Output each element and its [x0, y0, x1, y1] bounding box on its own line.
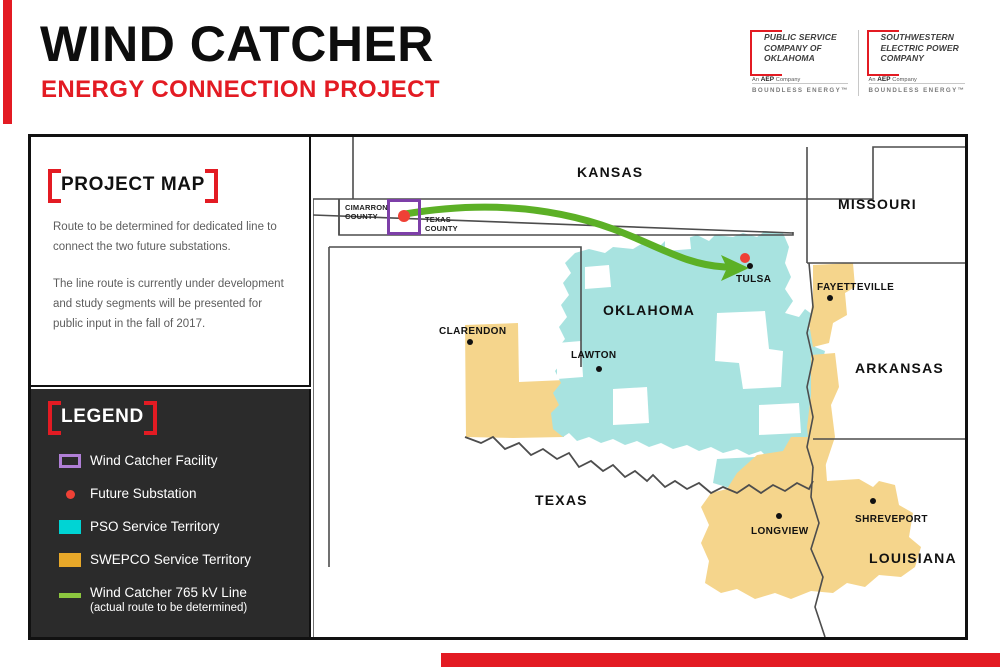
- legend-item-swepco-territory: SWEPCO Service Territory: [50, 551, 300, 568]
- pso-logo-rule: [752, 83, 848, 84]
- city-dot-clarendon: [467, 339, 473, 345]
- swepco-logo-line-1: SOUTHWESTERN: [881, 32, 969, 43]
- swepco-logo-rule: [869, 83, 965, 84]
- legend-label-transmission-line-sub: (actual route to be determined): [90, 601, 247, 616]
- project-map-heading: PROJECT MAP: [48, 172, 218, 198]
- city-label-tulsa: TULSA: [736, 274, 771, 285]
- project-map-body: Route to be determined for dedicated lin…: [53, 217, 285, 351]
- swepco-logo-tagline: BOUNDLESS ENERGY™: [869, 87, 966, 94]
- project-map: CIMARRON COUNTY TEXAS COUNTY KANSAS MISS…: [313, 137, 965, 637]
- city-dot-tulsa: [747, 263, 753, 269]
- legend-items: Wind Catcher Facility Future Substation …: [50, 452, 300, 632]
- county-label-texas-line1: TEXAS: [425, 215, 451, 224]
- city-dot-shreveport: [870, 498, 876, 504]
- swepco-area-arkansas-north: [809, 263, 855, 347]
- county-label-cimarron: CIMARRON COUNTY: [345, 203, 388, 221]
- county-label-texas-line2: COUNTY: [425, 224, 458, 233]
- state-label-louisiana: LOUISIANA: [869, 550, 957, 566]
- page-subtitle: ENERGY CONNECTION PROJECT: [41, 78, 440, 102]
- pso-logo-wordmark: PUBLIC SERVICE COMPANY OF OKLAHOMA: [764, 32, 852, 64]
- project-map-heading-text: PROJECT MAP: [61, 174, 205, 195]
- city-label-clarendon: CLARENDON: [439, 326, 507, 337]
- project-map-heading-bracket-left: [48, 169, 61, 203]
- city-dot-fayetteville: [827, 295, 833, 301]
- project-map-paragraph-1: Route to be determined for dedicated lin…: [53, 217, 285, 257]
- border-texas-panhandle-south: [329, 247, 581, 367]
- pso-logo-line-2: COMPANY OF: [764, 43, 852, 54]
- legend-label-transmission-line-main: Wind Catcher 765 kV Line: [90, 585, 247, 600]
- project-map-heading-bracket-right: [205, 169, 218, 203]
- state-label-missouri: MISSOURI: [838, 196, 917, 212]
- facility-box-swatch-icon: [59, 454, 81, 468]
- future-substation-dot-panhandle: [398, 210, 410, 222]
- pso-logo-line-3: OKLAHOMA: [764, 53, 852, 64]
- city-dot-lawton: [596, 366, 602, 372]
- city-label-longview: LONGVIEW: [751, 526, 809, 537]
- state-label-oklahoma: OKLAHOMA: [603, 302, 695, 318]
- swepco-logo-aep-line: An AEP Company: [869, 76, 917, 83]
- legend-label-future-substation: Future Substation: [90, 485, 197, 502]
- pso-area-notch-north: [665, 229, 691, 251]
- county-label-cimarron-line2: COUNTY: [345, 212, 378, 221]
- swepco-territory-swatch-icon: [59, 553, 81, 567]
- swepco-logo: SOUTHWESTERN ELECTRIC POWER COMPANY An A…: [865, 24, 969, 102]
- legend-label-transmission-line: Wind Catcher 765 kV Line (actual route t…: [90, 584, 247, 616]
- legend-label-swepco-territory: SWEPCO Service Territory: [90, 551, 251, 568]
- legend-swatch-wrap: [50, 518, 90, 534]
- pso-logo: PUBLIC SERVICE COMPANY OF OKLAHOMA An AE…: [748, 24, 852, 102]
- city-label-shreveport: SHREVEPORT: [855, 514, 928, 525]
- page-title: WIND CATCHER: [40, 19, 434, 69]
- legend-swatch-wrap: [50, 584, 90, 598]
- legend-heading: LEGEND: [48, 404, 157, 430]
- pso-territory-swatch-icon: [59, 520, 81, 534]
- logo-divider: [858, 30, 859, 96]
- pso-area-notch-nw: [585, 265, 611, 289]
- legend-heading-bracket-left: [48, 401, 61, 435]
- city-label-fayetteville: FAYETTEVILLE: [817, 282, 894, 293]
- legend-item-future-substation: Future Substation: [50, 485, 300, 502]
- legend-item-transmission-line: Wind Catcher 765 kV Line (actual route t…: [50, 584, 300, 616]
- legend-swatch-wrap: [50, 485, 90, 499]
- border-tx-ok-west: [329, 437, 465, 567]
- legend-swatch-wrap: [50, 551, 90, 567]
- poster-page: WIND CATCHER ENERGY CONNECTION PROJECT P…: [0, 0, 1000, 667]
- pso-aep-brand: AEP: [761, 76, 774, 83]
- future-substation-dot-tulsa: [740, 253, 750, 263]
- legend-label-pso-territory: PSO Service Territory: [90, 518, 220, 535]
- pso-logo-aep-line: An AEP Company: [752, 76, 800, 83]
- state-label-kansas: KANSAS: [577, 164, 643, 180]
- county-label-cimarron-line1: CIMARRON: [345, 203, 388, 212]
- header: WIND CATCHER ENERGY CONNECTION PROJECT P…: [0, 0, 1000, 125]
- legend-swatch-wrap: [50, 452, 90, 468]
- pso-logo-tagline: BOUNDLESS ENERGY™: [752, 87, 849, 94]
- pso-logo-line-1: PUBLIC SERVICE: [764, 32, 852, 43]
- legend-label-wind-catcher-facility: Wind Catcher Facility: [90, 452, 218, 469]
- swepco-logo-wordmark: SOUTHWESTERN ELECTRIC POWER COMPANY: [881, 32, 969, 64]
- footer-accent-bar: [441, 653, 1000, 667]
- swepco-logo-line-2: ELECTRIC POWER: [881, 43, 969, 54]
- legend-item-pso-territory: PSO Service Territory: [50, 518, 300, 535]
- swepco-logo-bracket-mask: [887, 62, 900, 74]
- swepco-aep-brand: AEP: [877, 76, 890, 83]
- state-label-texas: TEXAS: [535, 492, 588, 508]
- county-label-texas: TEXAS COUNTY: [425, 215, 458, 233]
- logo-group: PUBLIC SERVICE COMPANY OF OKLAHOMA An AE…: [748, 24, 968, 102]
- city-dot-longview: [776, 513, 782, 519]
- state-label-arkansas: ARKANSAS: [855, 360, 944, 376]
- pso-area-notch-se: [759, 403, 801, 435]
- header-accent-bar: [3, 0, 12, 124]
- swepco-area-texas-panhandle: [465, 323, 565, 438]
- transmission-line-swatch-icon: [59, 593, 81, 598]
- pso-area-notch-mid: [613, 387, 649, 425]
- legend-heading-bracket-right: [144, 401, 157, 435]
- legend-item-wind-catcher-facility: Wind Catcher Facility: [50, 452, 300, 469]
- legend-heading-text: LEGEND: [61, 406, 144, 427]
- pso-logo-bracket-mask: [770, 62, 783, 74]
- swepco-logo-line-3: COMPANY: [881, 53, 969, 64]
- substation-dot-swatch-icon: [66, 490, 75, 499]
- city-label-lawton: LAWTON: [571, 350, 617, 361]
- project-map-paragraph-2: The line route is currently under develo…: [53, 274, 285, 334]
